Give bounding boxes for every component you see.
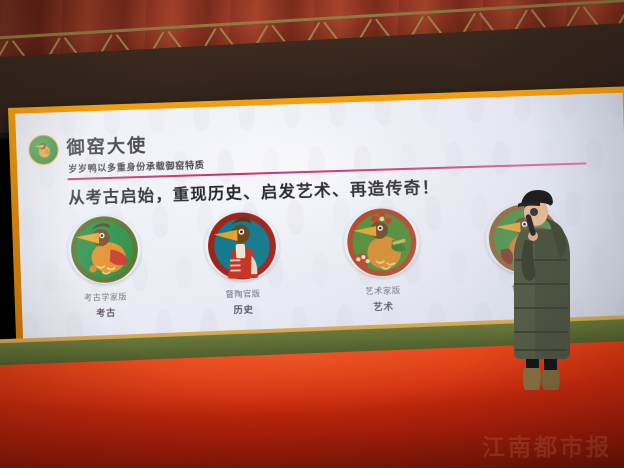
badge-item: 艺术家版艺术 [320,206,444,314]
badge-theme-label: 考古 [96,306,116,320]
photo-watermark: 江南都市报 [482,428,612,462]
presenter-figure [498,178,584,406]
page-title: 御窑大使 [66,131,148,160]
badge-theme-label: 历史 [233,303,254,317]
badge-item: 考古学家版考古 [45,214,165,320]
duck-archaeologist-icon [66,214,141,284]
duck-artist-icon [342,207,420,279]
badge-variant-label: 考古学家版 [84,291,127,303]
badge-variant-label: 督陶官版 [225,288,260,300]
badge-variant-label: 艺术家版 [365,285,401,297]
badge-item: 督陶官版历史 [181,210,303,317]
badge-theme-label: 艺术 [373,299,394,313]
duck-official-icon [203,210,279,281]
slide-headline: 从考古启始，重现历史、启发艺术、再造传奇！ [68,173,440,208]
page-subtitle: 岁岁鸭以多重身份承载御窑特质 [68,158,205,175]
photo-scene: 御窑大使 岁岁鸭以多重身份承载御窑特质 从考古启始，重现历史、启发艺术、再造传奇… [0,0,624,468]
duck-emblem-icon [28,134,59,165]
